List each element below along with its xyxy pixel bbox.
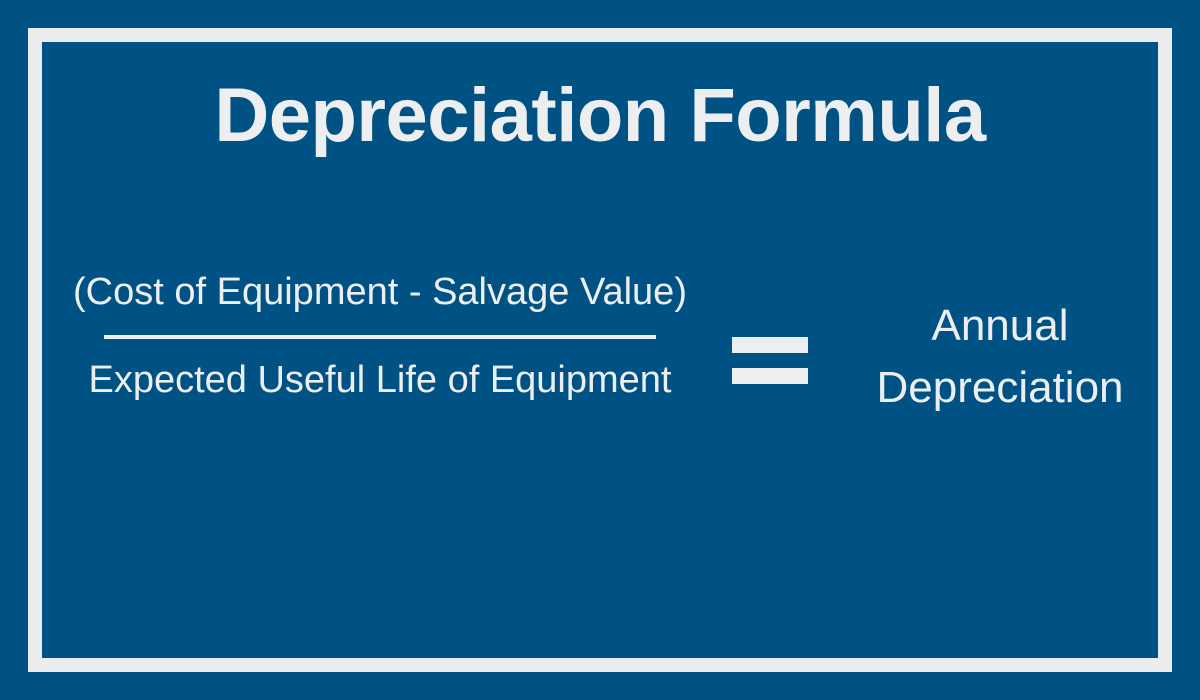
equals-sign-lower-bar <box>732 368 808 384</box>
formula-expression: (Cost of Equipment - Salvage Value) Expe… <box>42 265 1158 445</box>
depreciation-formula-graphic: Depreciation Formula (Cost of Equipment … <box>0 0 1200 700</box>
equals-sign-upper-bar <box>732 337 808 353</box>
fraction: (Cost of Equipment - Salvage Value) Expe… <box>70 265 690 407</box>
fraction-denominator: Expected Useful Life of Equipment <box>70 353 690 407</box>
result-line-annual: Annual <box>842 295 1158 357</box>
result-line-depreciation: Depreciation <box>842 357 1158 419</box>
page-title: Depreciation Formula <box>42 74 1158 158</box>
fraction-bar-divider <box>104 335 656 339</box>
formula-result: Annual Depreciation <box>842 295 1158 419</box>
equals-sign-icon <box>732 337 808 384</box>
fraction-numerator: (Cost of Equipment - Salvage Value) <box>70 265 690 319</box>
